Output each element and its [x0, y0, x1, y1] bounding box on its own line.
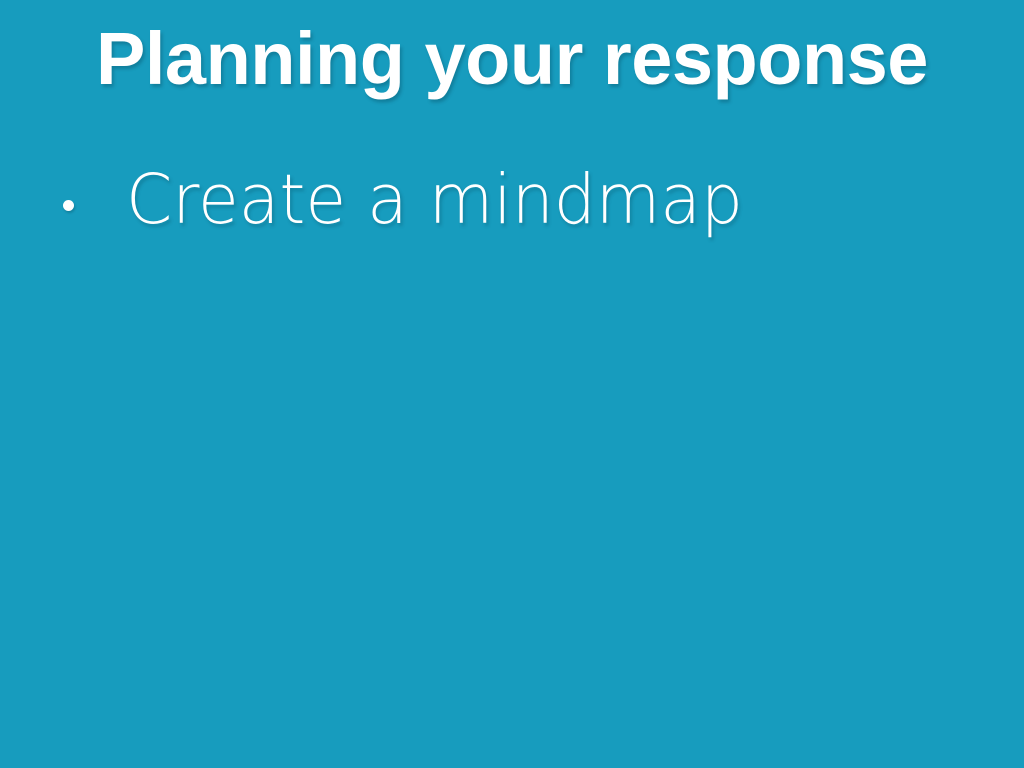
list-item: Create a mindmap [0, 160, 1024, 248]
bullet-item-label: Create a mindmap [126, 160, 743, 240]
bullet-list: Create a mindmap [0, 160, 1024, 248]
presentation-slide: Planning your response Create a mindmap [0, 0, 1024, 768]
slide-title: Planning your response [0, 16, 1024, 102]
bullet-dot-icon [63, 200, 74, 211]
